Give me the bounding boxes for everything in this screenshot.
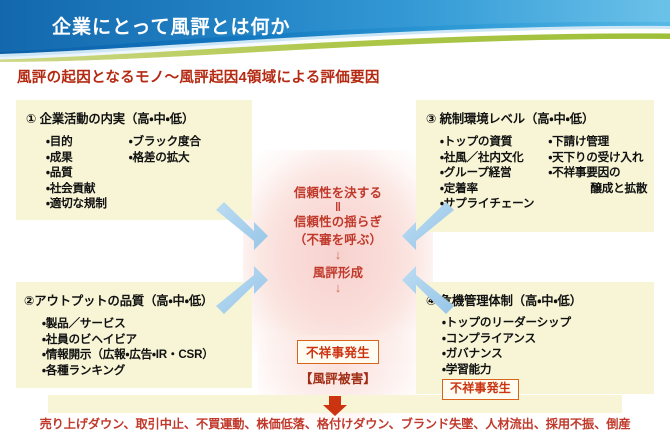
quadrant-2-columns: ・製品／サービス ・社員のビヘイビア ・情報開示（広報・広告・IR・CSR） ・… bbox=[42, 316, 252, 378]
quadrant-1-list-a: ・目的 ・成果 ・品質 ・社会貢献 ・適切な規制 bbox=[46, 134, 107, 212]
list-item: ・成果 bbox=[46, 150, 107, 166]
quadrant-3-list-a: ・トップの資質 ・社風／社内文化 ・グループ経営 ・定着率 ・サプライチェーン bbox=[440, 134, 534, 212]
quadrant-1-list-b: ・ブラック度合 ・格差の拡大 bbox=[129, 134, 201, 212]
quadrant-4-columns: ・トップのリーダーシップ ・コンプライアンス ・ガバナンス ・学習能力 不祥事発… bbox=[442, 315, 654, 400]
section-subtitle: 風評の起因となるモノ〜風評起因4領域による評価要因 bbox=[17, 66, 380, 87]
quadrant-3-title: ③ 統制環境レベル（高・中・低） bbox=[426, 109, 654, 127]
center-line-2: 信頼性の揺らぎ bbox=[258, 215, 418, 229]
list-item: ・社会貢献 bbox=[46, 181, 107, 197]
reputation-damage-label: 【風評被害】 bbox=[258, 368, 418, 387]
quadrant-box-4[interactable]: ④ 危機管理体制（高・中・低） ・トップのリーダーシップ ・コンプライアンス ・… bbox=[416, 282, 654, 394]
list-item: ・サプライチェーン bbox=[440, 196, 534, 212]
list-item: 醸成と拡散 bbox=[548, 181, 647, 197]
list-item: ・社風／社内文化 bbox=[440, 150, 534, 166]
list-item: ・グループ経営 bbox=[440, 165, 534, 181]
list-item: ・格差の拡大 bbox=[129, 150, 201, 166]
page-title: 企業にとって風評とは何か bbox=[52, 12, 290, 39]
list-item: 不祥事発生 bbox=[442, 377, 571, 400]
quadrant-4-title: ④ 危機管理体制（高・中・低） bbox=[426, 291, 654, 309]
slide-header: 企業にとって風評とは何か bbox=[0, 0, 670, 62]
incident-result-badge: 不祥事発生 bbox=[297, 340, 379, 364]
quadrant-box-2[interactable]: ②アウトプットの品質（高・中・低） ・製品／サービス ・社員のビヘイビア ・情報… bbox=[16, 282, 252, 388]
list-item: ・定着率 bbox=[440, 181, 534, 197]
center-equals-symbol: ‖ bbox=[258, 200, 418, 215]
list-item: ・学習能力 bbox=[442, 362, 571, 378]
consequences-text: 売り上げダウン、取引中止、不買運動、株価低落、格付けダウン、ブランド失墜、人材流… bbox=[0, 414, 670, 432]
quadrant-2-list-a: ・製品／サービス ・社員のビヘイビア ・情報開示（広報・広告・IR・CSR） ・… bbox=[42, 316, 214, 378]
list-item: ・不祥事要因の bbox=[548, 165, 647, 181]
center-causal-chain: 信頼性を決する ‖ 信頼性の揺らぎ （不審を呼ぶ） ↓ 風評形成 ↓ bbox=[258, 186, 418, 295]
list-item: ・天下りの受け入れ bbox=[548, 150, 647, 166]
center-down-arrow-1-icon: ↓ bbox=[258, 247, 418, 262]
quadrant-3-columns: ・トップの資質 ・社風／社内文化 ・グループ経営 ・定着率 ・サプライチェーン … bbox=[440, 134, 654, 212]
quadrant-4-list-a: ・トップのリーダーシップ ・コンプライアンス ・ガバナンス ・学習能力 不祥事発… bbox=[442, 315, 571, 400]
list-item: ・品質 bbox=[46, 165, 107, 181]
list-item: ・目的 bbox=[46, 134, 107, 150]
list-item: ・ブラック度合 bbox=[129, 134, 201, 150]
list-item: ・情報開示（広報・広告・IR・CSR） bbox=[42, 347, 214, 363]
quadrant-box-1[interactable]: ① 企業活動の内実（高・中・低） ・目的 ・成果 ・品質 ・社会貢献 ・適切な規… bbox=[16, 100, 252, 220]
list-item: ・コンプライアンス bbox=[442, 331, 571, 347]
quadrant-3-list-b: ・下請け管理 ・天下りの受け入れ ・不祥事要因の 醸成と拡散 bbox=[548, 134, 647, 212]
incident-badge-quadrant-4: 不祥事発生 bbox=[442, 379, 519, 400]
quadrant-2-title: ②アウトプットの品質（高・中・低） bbox=[24, 291, 252, 309]
quadrant-box-3[interactable]: ③ 統制環境レベル（高・中・低） ・トップの資質 ・社風／社内文化 ・グループ経… bbox=[416, 100, 654, 232]
center-outcome: 不祥事発生 【風評被害】 bbox=[258, 340, 418, 387]
quadrant-1-columns: ・目的 ・成果 ・品質 ・社会貢献 ・適切な規制 ・ブラック度合 ・格差の拡大 bbox=[46, 134, 252, 212]
center-line-3: （不審を呼ぶ） bbox=[258, 233, 418, 247]
list-item: ・各種ランキング bbox=[42, 363, 214, 379]
quadrant-1-title: ① 企業活動の内実（高・中・低） bbox=[26, 109, 252, 127]
center-line-1: 信頼性を決する bbox=[258, 186, 418, 200]
slide-canvas: 企業にとって風評とは何か 風評の起因となるモノ〜風評起因4領域による評価要因 bbox=[0, 0, 670, 438]
list-item: ・トップのリーダーシップ bbox=[442, 315, 571, 331]
list-item: ・下請け管理 bbox=[548, 134, 647, 150]
list-item: ・ガバナンス bbox=[442, 346, 571, 362]
center-down-arrow-2-icon: ↓ bbox=[258, 280, 418, 295]
list-item: ・製品／サービス bbox=[42, 316, 214, 332]
list-item: ・トップの資質 bbox=[440, 134, 534, 150]
list-item: ・適切な規制 bbox=[46, 196, 107, 212]
list-item: ・社員のビヘイビア bbox=[42, 332, 214, 348]
center-line-4: 風評形成 bbox=[258, 266, 418, 280]
